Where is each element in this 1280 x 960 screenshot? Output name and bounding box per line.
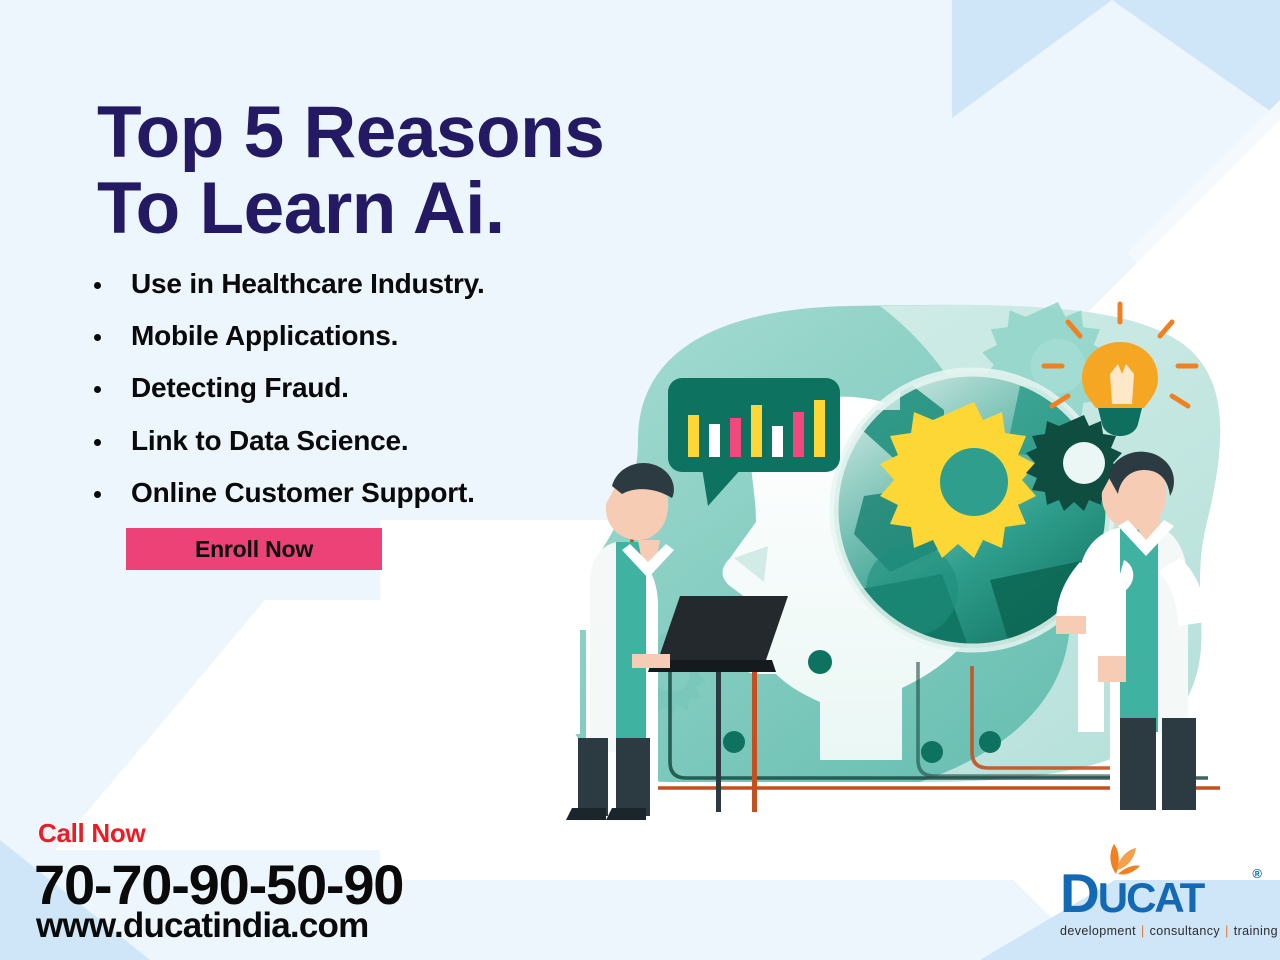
poster-canvas: Top 5 Reasons To Learn Ai. Use in Health… xyxy=(0,0,1280,960)
logo-tagline: development|consultancy|training xyxy=(1060,924,1278,938)
tagline-training: training xyxy=(1234,924,1278,938)
list-item-label: Online Customer Support. xyxy=(131,477,475,508)
logo-letter-d: D xyxy=(1060,862,1098,924)
logo-wordmark: DUCAT xyxy=(1060,866,1203,921)
registered-mark: ® xyxy=(1252,866,1262,881)
list-item-label: Use in Healthcare Industry. xyxy=(131,268,485,299)
tagline-development: development xyxy=(1060,924,1136,938)
headline-line-2: To Learn Ai. xyxy=(97,171,737,247)
tagline-separator: | xyxy=(1225,924,1229,938)
website-url[interactable]: www.ducatindia.com xyxy=(36,906,368,946)
list-item-label: Mobile Applications. xyxy=(131,320,398,351)
list-item-label: Detecting Fraud. xyxy=(131,372,349,403)
ducat-logo[interactable]: DUCAT ® development|consultancy|training xyxy=(1052,842,1266,948)
tagline-separator: | xyxy=(1141,924,1145,938)
background-triangle-top-right xyxy=(1112,0,1280,118)
call-now-label: Call Now xyxy=(38,818,145,849)
enroll-now-button[interactable]: Enroll Now xyxy=(126,528,382,570)
bullet-dot-icon xyxy=(94,491,101,498)
bullet-dot-icon xyxy=(94,386,101,393)
page-title: Top 5 Reasons To Learn Ai. xyxy=(97,95,737,247)
ai-illustration xyxy=(520,290,1260,820)
bullet-dot-icon xyxy=(94,439,101,446)
logo-letters-ucat: UCAT xyxy=(1098,874,1204,921)
headline-line-1: Top 5 Reasons xyxy=(97,92,604,173)
bullet-dot-icon xyxy=(94,334,101,341)
background-triangle-top-right-2 xyxy=(952,0,1112,118)
list-item-label: Link to Data Science. xyxy=(131,425,408,456)
bullet-dot-icon xyxy=(94,282,101,289)
tagline-consultancy: consultancy xyxy=(1150,924,1220,938)
